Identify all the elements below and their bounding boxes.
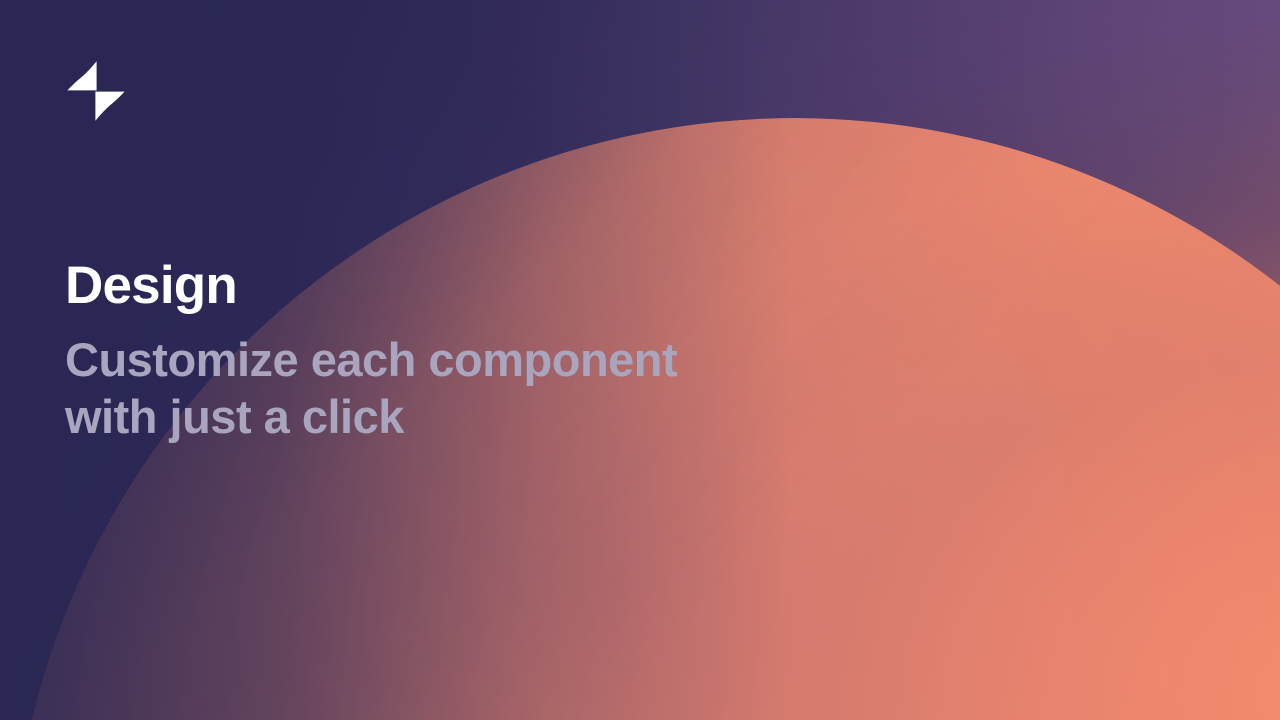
headline-block: Design Customize each component with jus… [65,258,825,445]
slide-canvas: Design Customize each component with jus… [0,0,1280,720]
brand-logo[interactable] [64,58,128,124]
page-subtitle: Customize each component with just a cli… [65,332,825,445]
spark-logo-icon [64,58,128,124]
page-title: Design [65,258,825,314]
